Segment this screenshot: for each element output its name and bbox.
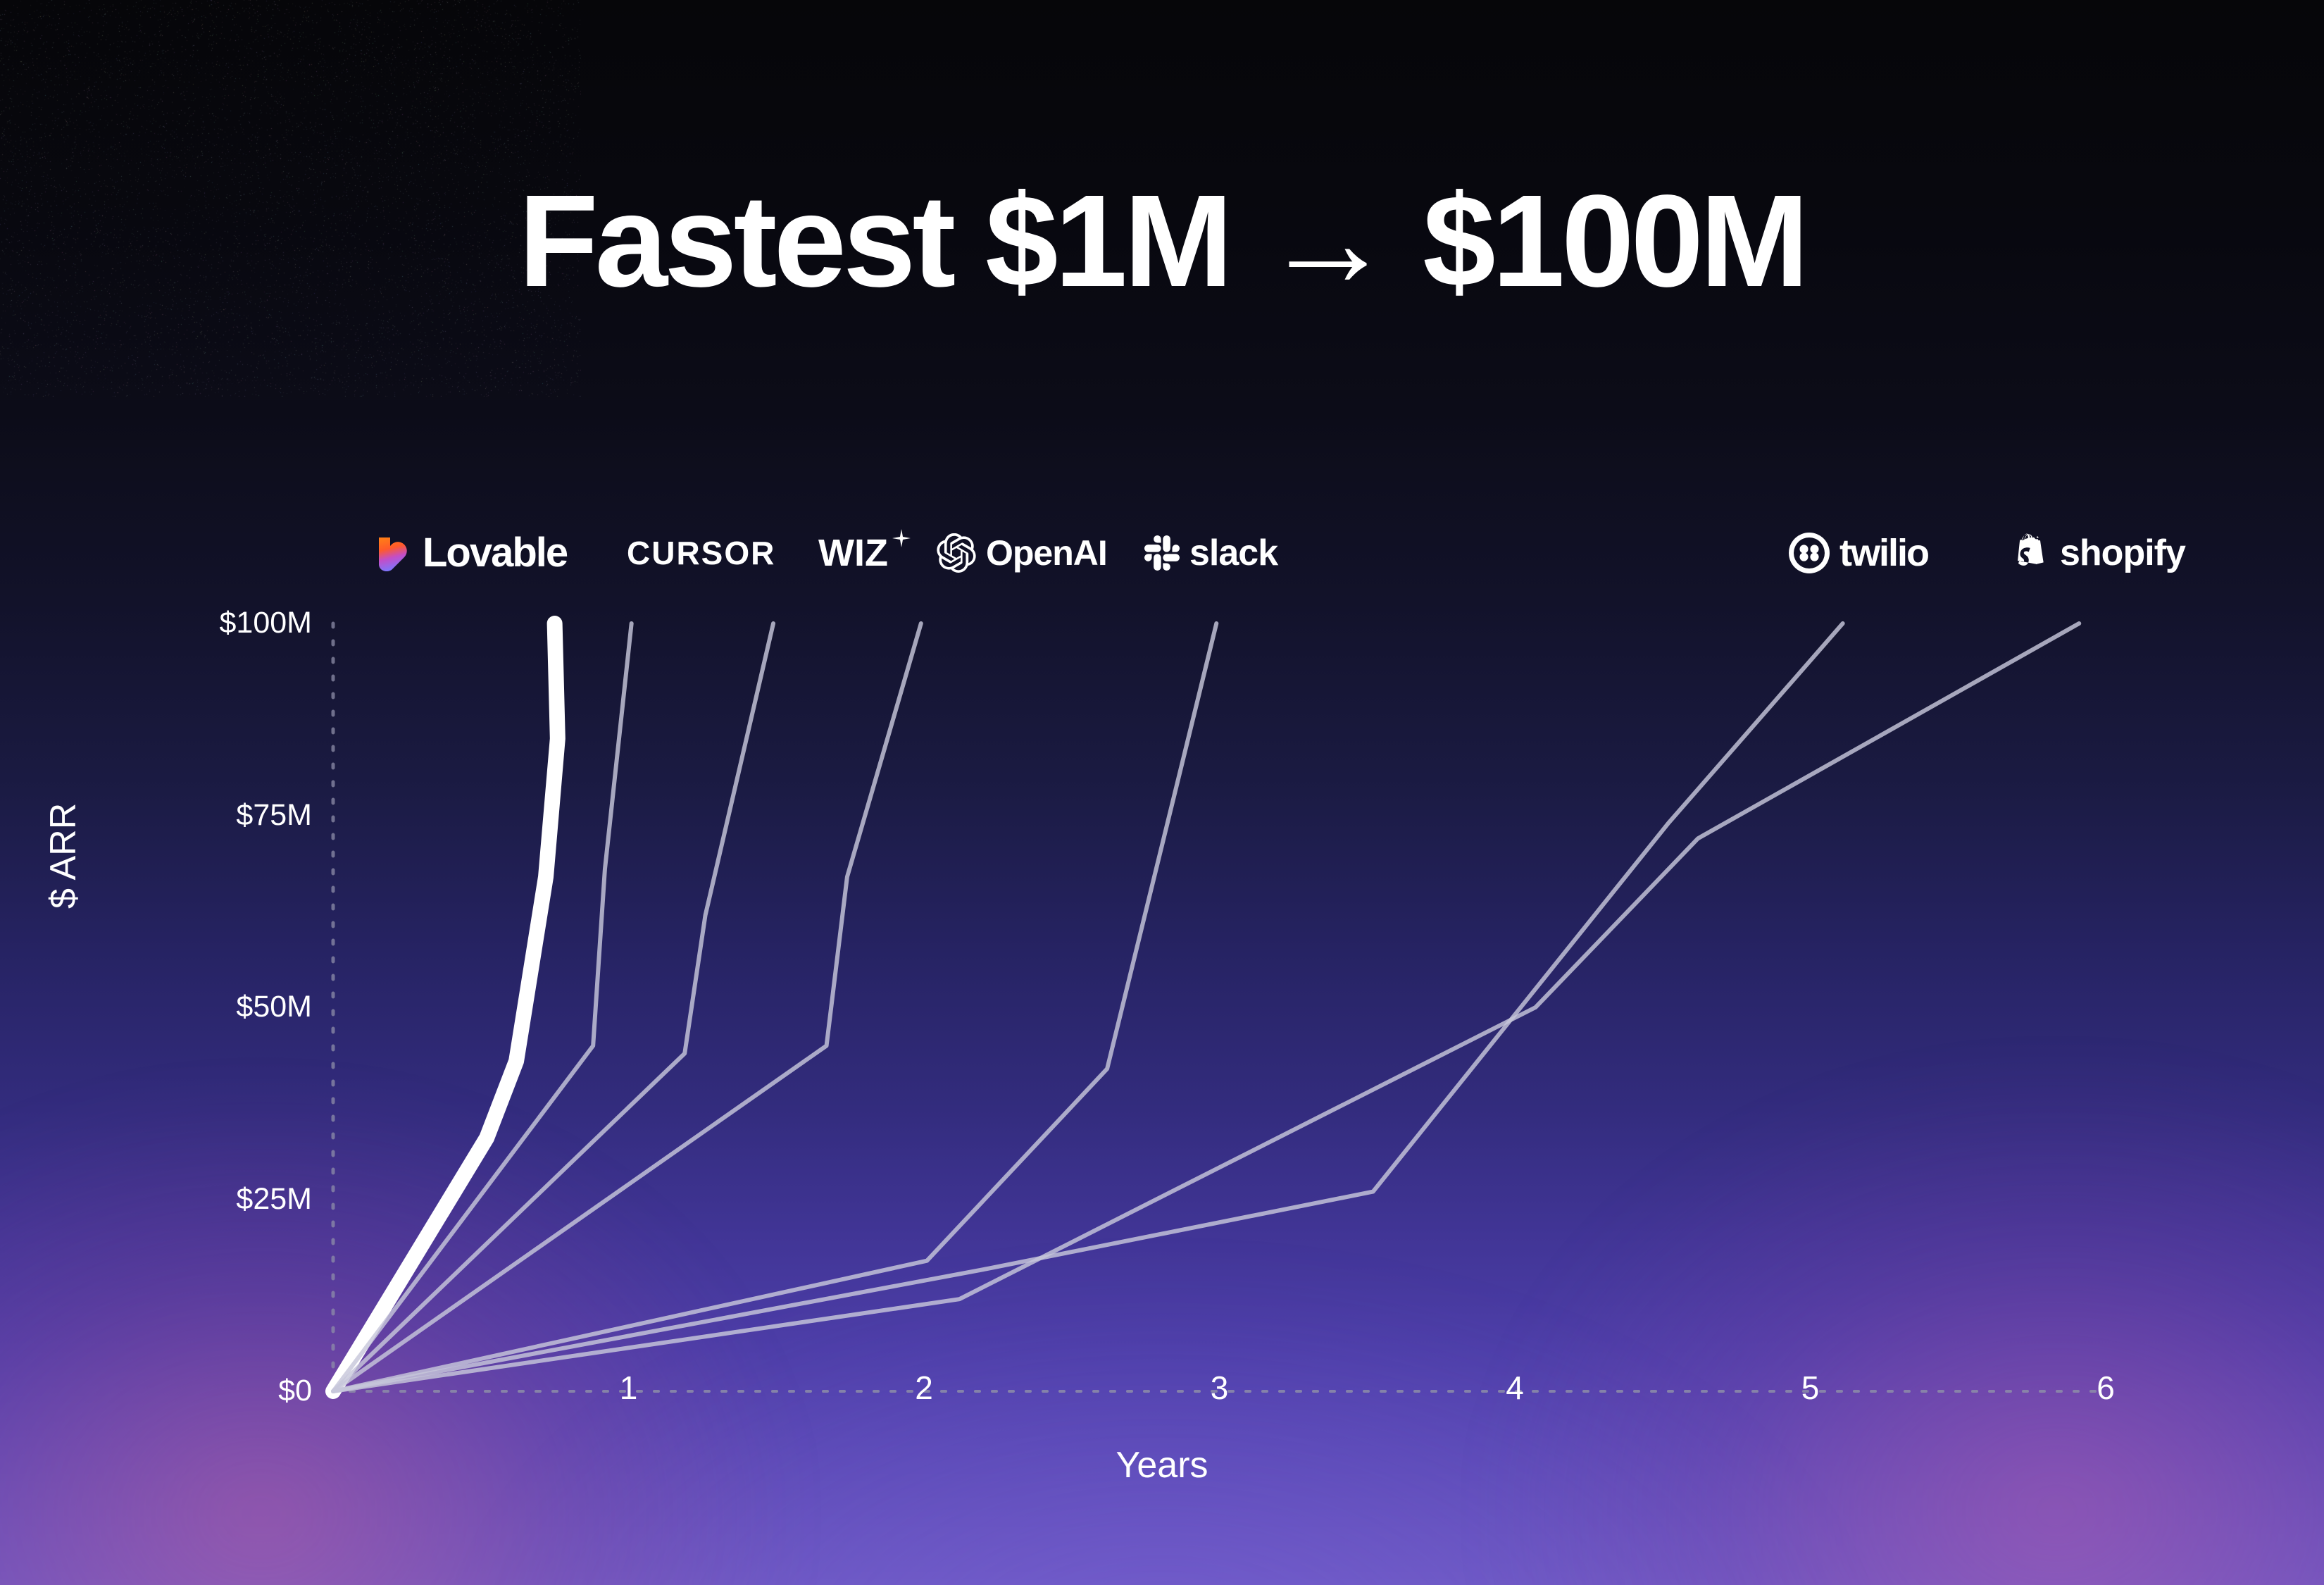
x-axis-tick: 1 xyxy=(594,1372,664,1404)
x-axis-tick: 3 xyxy=(1185,1372,1255,1404)
y-axis-tick: $25M xyxy=(101,1184,312,1214)
y-axis-label: $ ARR xyxy=(42,803,85,909)
chart-canvas: Fastest $1M → $100M LovableCURSORWIZOpen… xyxy=(0,0,2324,1585)
y-axis-tick: $50M xyxy=(101,992,312,1022)
x-axis-tick: 6 xyxy=(2070,1372,2141,1404)
x-axis-label: Years xyxy=(0,1444,2324,1486)
y-axis-tick: $75M xyxy=(101,800,312,831)
y-axis-tick: $100M xyxy=(101,608,312,638)
x-axis-tick: 2 xyxy=(889,1372,959,1404)
x-axis-tick: 4 xyxy=(1480,1372,1550,1404)
x-axis-tick: 5 xyxy=(1775,1372,1846,1404)
y-axis-tick: $0 xyxy=(101,1376,312,1406)
line-chart-plot xyxy=(0,0,2324,1585)
